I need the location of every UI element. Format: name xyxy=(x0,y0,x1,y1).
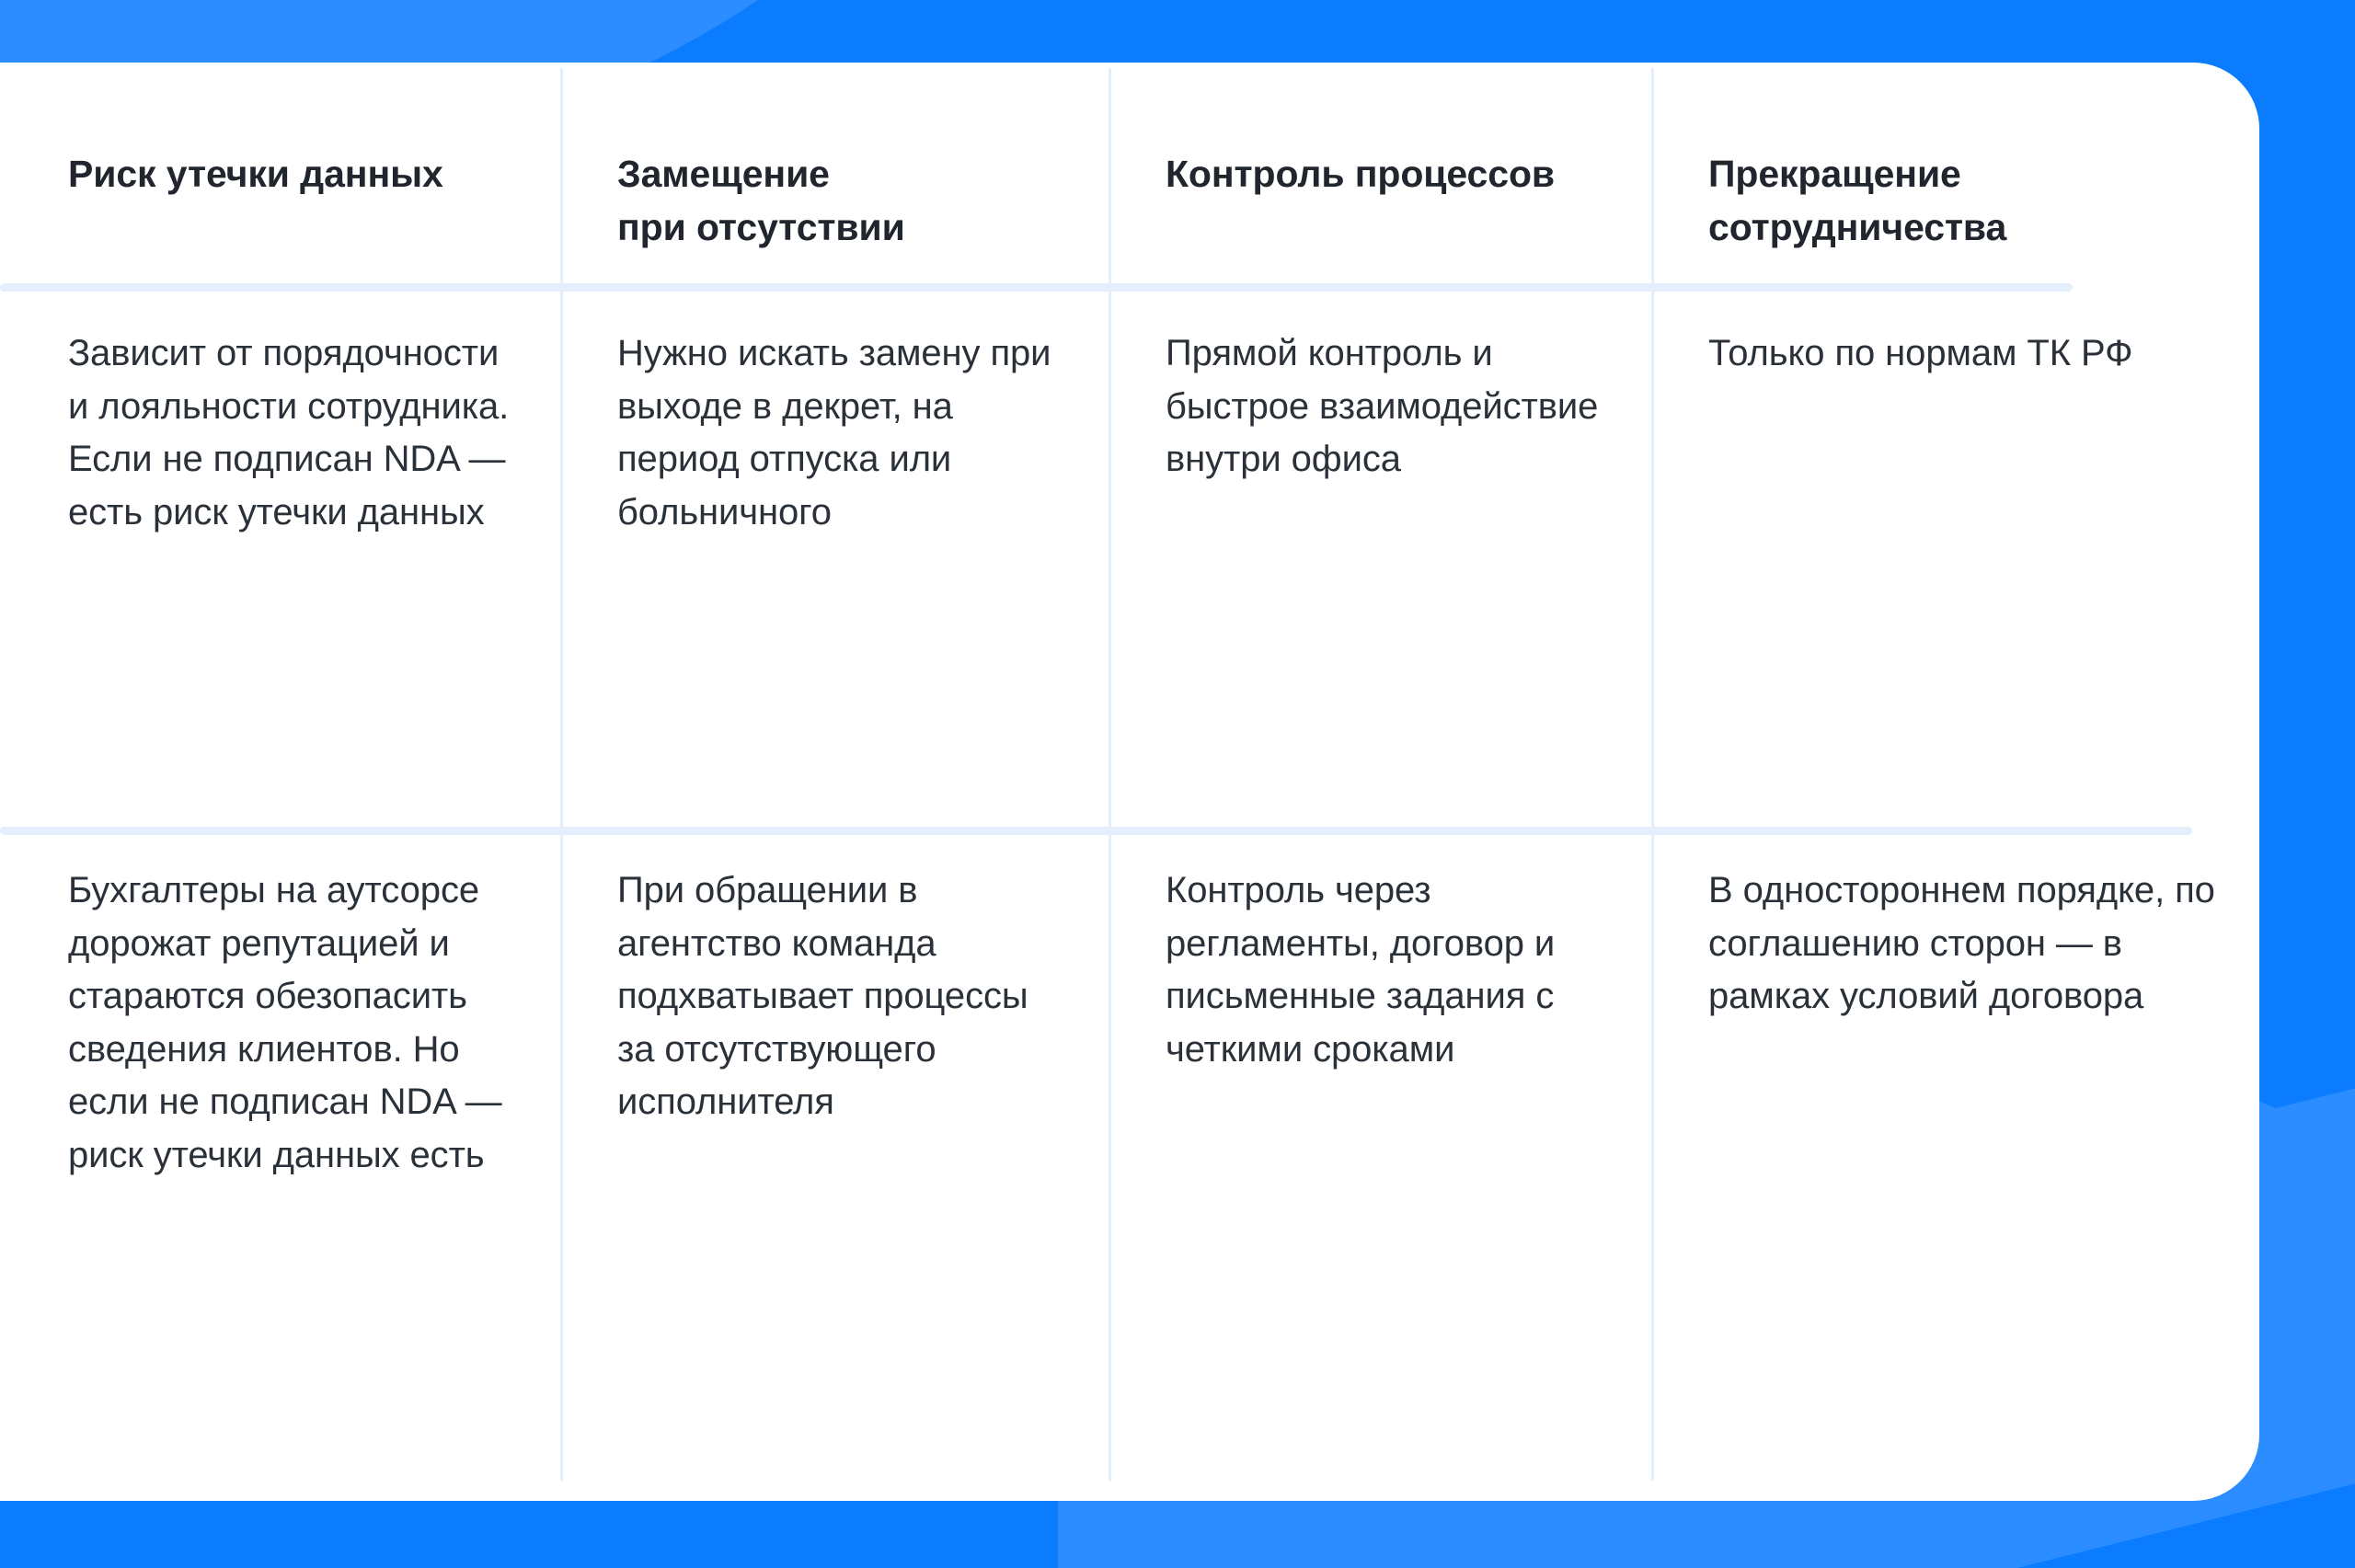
table-row: Зависит от порядочности и лояльности сот… xyxy=(0,327,2259,539)
table-card: Риск утечки данных Замещение при отсутст… xyxy=(0,63,2259,1501)
column-divider-3 xyxy=(1651,68,1654,1481)
table-row: Бухгалтеры на аутсорсе дорожат репутацие… xyxy=(0,864,2259,1183)
column-header-prekraschenie-sotrudnichestva: Прекращение сотрудничества xyxy=(1651,147,2259,254)
body-row-divider xyxy=(0,827,2192,835)
comparison-table-slide: Риск утечки данных Замещение при отсутст… xyxy=(0,0,2355,1568)
table-cell-r2c3: Контроль через регламенты, договор и пис… xyxy=(1109,864,1651,1183)
table-cell-r2c2: При обращении в агентство команда подхва… xyxy=(560,864,1109,1183)
header-row-divider xyxy=(0,283,2073,292)
table-cell-r2c1: Бухгалтеры на аутсорсе дорожат репутацие… xyxy=(0,864,560,1183)
table-cell-r1c3: Прямой контроль и быстрое взаимодействие… xyxy=(1109,327,1651,539)
column-header-risk-utechki-dannyh: Риск утечки данных xyxy=(0,147,560,254)
comparison-table: Риск утечки данных Замещение при отсутст… xyxy=(0,63,2259,1501)
column-header-kontrol-processov: Контроль процессов xyxy=(1109,147,1651,254)
column-divider-2 xyxy=(1109,68,1111,1481)
column-header-zameschenie-pri-otsutstvii: Замещение при отсутствии xyxy=(560,147,1109,254)
table-cell-r1c4: Только по нормам ТК РФ xyxy=(1651,327,2259,539)
table-header-row: Риск утечки данных Замещение при отсутст… xyxy=(0,147,2259,254)
table-cell-r2c4: В одностороннем порядке, по соглашению с… xyxy=(1651,864,2259,1183)
table-cell-r1c1: Зависит от порядочности и лояльности сот… xyxy=(0,327,560,539)
column-divider-1 xyxy=(560,68,563,1481)
table-cell-r1c2: Нужно искать замену при выходе в декрет,… xyxy=(560,327,1109,539)
